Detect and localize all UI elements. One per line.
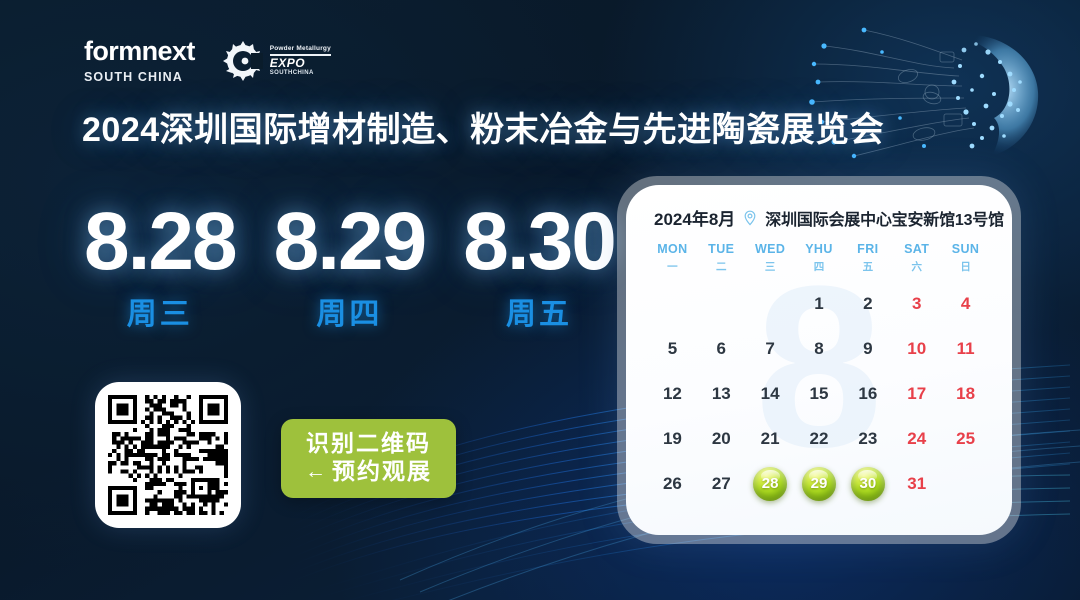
calendar-header-fri: FRI五 xyxy=(843,242,892,281)
calendar-day-7[interactable]: 7 xyxy=(746,326,795,371)
date-weekday: 周四 xyxy=(316,289,382,333)
calendar-day-12[interactable]: 12 xyxy=(648,371,697,416)
calendar-header: 2024年8月 深圳国际会展中心宝安新馆13号馆 xyxy=(648,205,990,230)
logo-row: formnext SOUTH CHINA Powder Metallurgy E… xyxy=(84,38,331,84)
formnext-logo: formnext SOUTH CHINA xyxy=(84,38,195,84)
calendar-week-row: 19202122232425 xyxy=(648,416,990,461)
date-weekday: 周五 xyxy=(506,289,572,333)
date-number: 8.28 xyxy=(84,203,236,281)
calendar-day-17[interactable]: 17 xyxy=(892,371,941,416)
calendar-week-row: 1234 xyxy=(648,281,990,326)
callout-line-2: ← 预约观展 xyxy=(305,460,432,483)
calendar-week-row: 12131415161718 xyxy=(648,371,990,416)
formnext-wordmark: formnext xyxy=(84,38,195,65)
weekday-en: SAT xyxy=(904,242,929,256)
calendar-day-27[interactable]: 27 xyxy=(697,461,746,506)
date-number: 8.29 xyxy=(274,203,426,281)
calendar-day-highlighted-28[interactable]: 28 xyxy=(746,461,795,506)
arrow-left-icon: ← xyxy=(305,461,328,482)
date-weekday: 周三 xyxy=(127,289,193,333)
calendar-day-9[interactable]: 9 xyxy=(843,326,892,371)
callout-line-2-text: 预约观展 xyxy=(332,460,432,483)
calendar-day-26[interactable]: 26 xyxy=(648,461,697,506)
calendar-card: 8 2024年8月 深圳国际会展中心宝安新馆13号馆 MON一TUE二WED三Y… xyxy=(617,176,1021,544)
date-number: 8.30 xyxy=(463,203,615,281)
calendar-header-yhu: YHU四 xyxy=(795,242,844,281)
calendar-header-mon: MON一 xyxy=(648,242,697,281)
weekday-cn: 二 xyxy=(716,259,727,274)
calendar-venue-label: 深圳国际会展中心宝安新馆13号馆 xyxy=(765,206,1004,230)
calendar-day-5[interactable]: 5 xyxy=(648,326,697,371)
weekday-cn: 五 xyxy=(863,259,874,274)
formnext-region: SOUTH CHINA xyxy=(84,70,195,84)
calendar-day-highlighted-30[interactable]: 30 xyxy=(843,461,892,506)
date-item: 8.28 周三 xyxy=(84,203,236,333)
weekday-en: FRI xyxy=(857,242,878,256)
calendar-day-25[interactable]: 25 xyxy=(941,416,990,461)
event-day-orb: 30 xyxy=(851,467,885,501)
calendar-day-13[interactable]: 13 xyxy=(697,371,746,416)
pm-expo-tagline: Powder Metallurgy xyxy=(270,46,331,53)
qr-code[interactable] xyxy=(95,382,241,528)
calendar-day-31[interactable]: 31 xyxy=(892,461,941,506)
calendar-day-10[interactable]: 10 xyxy=(892,326,941,371)
pm-expo-word: EXPO xyxy=(270,57,331,69)
weekday-cn: 三 xyxy=(765,259,776,274)
weekday-cn: 六 xyxy=(911,259,922,274)
calendar-day-2[interactable]: 2 xyxy=(843,281,892,326)
weekday-cn: 四 xyxy=(814,259,825,274)
qr-code-image xyxy=(108,395,228,515)
calendar-day-highlighted-29[interactable]: 29 xyxy=(795,461,844,506)
calendar-day-11[interactable]: 11 xyxy=(941,326,990,371)
calendar-header-sat: SAT六 xyxy=(892,242,941,281)
weekday-en: SUN xyxy=(952,242,980,256)
calendar-day-8[interactable]: 8 xyxy=(795,326,844,371)
weekday-en: WED xyxy=(755,242,785,256)
calendar-day-14[interactable]: 14 xyxy=(746,371,795,416)
calendar-day-1[interactable]: 1 xyxy=(795,281,844,326)
event-day-orb: 28 xyxy=(753,467,787,501)
calendar-weekday-headers: MON一TUE二WED三YHU四FRI五SAT六SUN日 xyxy=(648,242,990,281)
calendar-header-wed: WED三 xyxy=(746,242,795,281)
weekday-en: MON xyxy=(657,242,687,256)
calendar-month-label: 2024年8月 xyxy=(654,205,735,230)
calendar-day-21[interactable]: 21 xyxy=(746,416,795,461)
weekday-cn: 一 xyxy=(667,259,678,274)
date-item: 8.30 周五 xyxy=(463,203,615,333)
calendar-header-sun: SUN日 xyxy=(941,242,990,281)
calendar-day-24[interactable]: 24 xyxy=(892,416,941,461)
date-item: 8.29 周四 xyxy=(274,203,426,333)
calendar-day-3[interactable]: 3 xyxy=(892,281,941,326)
calendar-day-15[interactable]: 15 xyxy=(795,371,844,416)
calendar-header-tue: TUE二 xyxy=(697,242,746,281)
qr-callout[interactable]: 识别二维码 ← 预约观展 xyxy=(281,419,456,498)
calendar-day-19[interactable]: 19 xyxy=(648,416,697,461)
calendar-day-22[interactable]: 22 xyxy=(795,416,844,461)
weekday-en: YHU xyxy=(805,242,833,256)
calendar-day-23[interactable]: 23 xyxy=(843,416,892,461)
gear-icon xyxy=(221,39,265,83)
calendar-day-4[interactable]: 4 xyxy=(941,281,990,326)
pm-expo-region: SOUTHCHINA xyxy=(270,70,331,76)
page-title: 2024深圳国际增材制造、粉末冶金与先进陶瓷展览会 xyxy=(82,102,884,151)
calendar-day-6[interactable]: 6 xyxy=(697,326,746,371)
event-day-orb: 29 xyxy=(802,467,836,501)
calendar-body: 1234567891011121314151617181920212223242… xyxy=(648,281,990,506)
calendar-day-20[interactable]: 20 xyxy=(697,416,746,461)
weekday-cn: 日 xyxy=(960,259,971,274)
powder-metallurgy-expo-logo: Powder Metallurgy EXPO SOUTHCHINA xyxy=(221,39,331,83)
calendar-week-row: 567891011 xyxy=(648,326,990,371)
event-dates: 8.28 周三 8.29 周四 8.30 周五 xyxy=(84,203,615,333)
calendar-week-row: 262728293031 xyxy=(648,461,990,506)
location-pin-icon xyxy=(742,210,758,226)
calendar-day-16[interactable]: 16 xyxy=(843,371,892,416)
calendar-grid: MON一TUE二WED三YHU四FRI五SAT六SUN日 12345678910… xyxy=(648,242,990,506)
callout-line-1: 识别二维码 xyxy=(306,432,431,455)
calendar-day-18[interactable]: 18 xyxy=(941,371,990,416)
weekday-en: TUE xyxy=(708,242,734,256)
event-poster: formnext SOUTH CHINA Powder Metallurgy E… xyxy=(0,0,1080,600)
